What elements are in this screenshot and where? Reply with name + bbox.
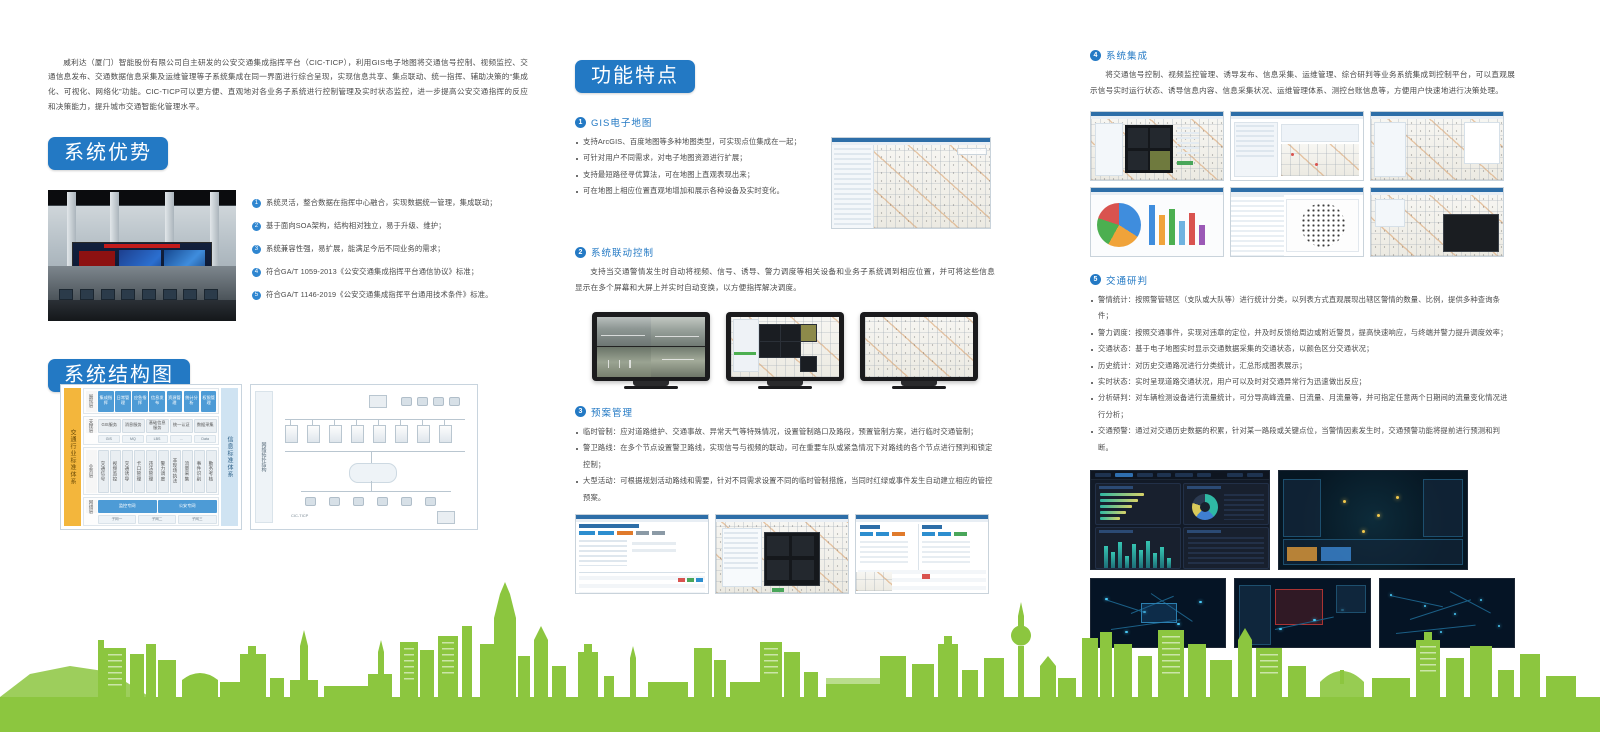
feature-heading-5: 5 交通研判: [1090, 273, 1515, 287]
bullet-number: 3: [252, 245, 261, 254]
list-item: 历史统计：对历史交通路况进行分类统计，汇总形成图表展示；: [1090, 358, 1515, 374]
list-item: 警力调度：按照交通事件，实现对违章的定位，并及时反馈给周边或附近警员，提高快速响…: [1090, 325, 1515, 341]
integration-shot-1: [1090, 111, 1224, 181]
feature-heading-2: 2 系统联动控制: [575, 245, 995, 259]
list-item: 临时管制：应对道路维护、交通事故、异常天气等特殊情况，设置管制路口及路段，预置管…: [575, 424, 995, 440]
list-item: 可针对用户不同需求，对电子地图资源进行扩展；: [575, 150, 815, 166]
chip: 事件识别: [194, 450, 205, 493]
chip: GIS服务: [98, 419, 121, 433]
chip: 资源管理: [167, 391, 183, 412]
monitor-cctv: [592, 312, 710, 389]
section-title: 系统集成: [1106, 48, 1148, 62]
section-title: 交通研判: [1106, 273, 1148, 287]
chip: 应急指挥: [132, 391, 148, 412]
feature-body-2: 支持当交通警情发生时自动将视频、信号、诱导、警力调度等相关设备和业务子系统调到相…: [575, 264, 995, 296]
topology-label: 网络拓扑结构: [255, 391, 273, 523]
features-title: 功能特点: [575, 60, 695, 93]
chip: 警力调度: [158, 450, 169, 493]
list-item: 1系统灵活，整合数据在指挥中心融合，实现数据统一管理，集成联动；: [252, 198, 517, 209]
chip: 监控专网: [98, 500, 157, 514]
section-number: 3: [575, 406, 586, 417]
chip: 违法管理: [146, 450, 157, 493]
list-item: 5符合GA/T 1146-2019《公安交通集成指挥平台通用技术条件》标准。: [252, 290, 517, 301]
dashboard-row-top: [1090, 470, 1515, 570]
feature-heading-1: 1 GIS电子地图: [575, 115, 815, 129]
feature-body-4: 将交通信号控制、视频监控管理、诱导发布、信息采集、运维管理、综合研判等业务系统集…: [1090, 67, 1515, 99]
list-item: 分析研判：对车辆检测设备进行流量统计，可分导高峰流量、日流量、月流量等，并可指定…: [1090, 390, 1515, 423]
chip: 统计分析: [184, 391, 200, 412]
brochure-page: 威利达（厦门）智能股份有限公司自主研发的公安交通集成指挥平台（CIC-TICP）…: [0, 0, 1600, 732]
chip-sub: ...: [170, 435, 193, 443]
monitor-software: [726, 312, 844, 389]
left-axis-label: 交通行业标准体系: [64, 388, 81, 526]
chip-sub: 子网二: [138, 515, 177, 523]
chip: 数据采集: [194, 419, 217, 433]
integration-shot-4: [1090, 187, 1224, 257]
advantage-text: 系统兼容性强，易扩展，能满足今后不同业务的需求；: [266, 244, 445, 255]
middle-column: 功能特点 1 GIS电子地图 支持ArcGIS、百度地图等多种地图类型，可实现点…: [575, 60, 995, 594]
monitor-group: [575, 312, 995, 389]
feature-heading-4: 4 系统集成: [1090, 48, 1515, 62]
bullet-number: 5: [252, 291, 261, 300]
section-title: 系统联动控制: [591, 245, 654, 259]
integration-shot-3: [1370, 111, 1504, 181]
row-label: 业务层: [86, 450, 97, 493]
list-item: 4符合GA/T 1059-2013《公安交通集成指挥平台通信协议》标准；: [252, 267, 517, 278]
chip-sub: LBS: [146, 435, 169, 443]
list-item: 支持ArcGIS、百度地图等多种地图类型，可实现点位集成在一起；: [575, 134, 815, 150]
section-title: GIS电子地图: [591, 115, 652, 129]
chip: 勤务考核: [206, 450, 217, 493]
right-axis-label: 信息标准体系: [221, 388, 238, 526]
list-item: 警情统计：按照警管辖区（支队或大队等）进行统计分类，以列表方式直观展现出辖区警情…: [1090, 292, 1515, 325]
system-structure-diagram: 交通行业标准体系 展现层 集成指挥 日常管理 应急指挥 信息发布 资源管理 统计…: [60, 384, 478, 530]
list-item: 实时状态：实时呈现道路交通状况，用户可以及时对交通异常行为迅速做出反应；: [1090, 374, 1515, 390]
list-item: 可在地图上相应位置直观地增加和展示各种设备及实时变化。: [575, 183, 815, 199]
layer-row-display: 展现层 集成指挥 日常管理 应急指挥 信息发布 资源管理 统计分析 权限管理: [83, 388, 219, 414]
chip: 消息服务: [122, 419, 145, 433]
chip: 流量采集: [182, 450, 193, 493]
list-item: 交通预警：通过对交通历史数据的积累，针对某一路段或关键点位，当警情因素发生时，交…: [1090, 423, 1515, 456]
section-title: 预案管理: [591, 405, 633, 419]
chip-sub: GIS: [98, 435, 121, 443]
layer-row-support: 支撑层 GIS服务 消息服务 基础信息服务 统一认证 数据采集 GIS MQ L…: [83, 416, 219, 445]
row-label: 支撑层: [86, 419, 97, 433]
integration-shot-6: [1370, 187, 1504, 257]
list-item: 交通状态：基于电子地图实时显示交通数据采集的交通状态，以颜色区分交通状况；: [1090, 341, 1515, 357]
chip-sub: Data: [194, 435, 217, 443]
list-item: 警卫路线：在多个节点设置警卫路线，实现信号与视频的联动，可在重要车队或紧急情况下…: [575, 440, 995, 473]
chip: 日常管理: [115, 391, 131, 412]
chip: 非现场执法: [170, 450, 181, 493]
architecture-layers: 交通行业标准体系 展现层 集成指挥 日常管理 应急指挥 信息发布 资源管理 统计…: [60, 384, 242, 530]
monitor-map: [860, 312, 978, 389]
map-visualization-dashboard: [1278, 470, 1468, 570]
advantage-text: 符合GA/T 1146-2019《公安交通集成指挥平台通用技术条件》标准。: [266, 290, 493, 301]
row-label: 网络层: [86, 500, 97, 514]
chip: 公安专网: [158, 500, 217, 514]
integration-shot-5: [1230, 187, 1364, 257]
gis-map-screenshot: [831, 137, 991, 229]
network-topology-diagram: 网络拓扑结构: [250, 384, 478, 530]
advantage-text: 符合GA/T 1059-2013《公安交通集成指挥平台通信协议》标准；: [266, 267, 478, 278]
advantage-text: 基于面向SOA架构，结构相对独立，易于升级、维护；: [266, 221, 446, 232]
feature-bullets-1: 支持ArcGIS、百度地图等多种地图类型，可实现点位集成在一起； 可针对用户不同…: [575, 134, 815, 200]
control-room-photo: [48, 190, 236, 321]
list-item: 3系统兼容性强，易扩展，能满足今后不同业务的需求；: [252, 244, 517, 255]
city-skyline-decoration: [0, 582, 1600, 732]
bullet-number: 4: [252, 268, 261, 277]
feature-bullets-3: 临时管制：应对道路维护、交通事故、异常天气等特殊情况，设置管制路口及路段，预置管…: [575, 424, 995, 506]
feature-bullets-5: 警情统计：按照警管辖区（支队或大队等）进行统计分类，以列表方式直观展现出辖区警情…: [1090, 292, 1515, 456]
bullet-number: 2: [252, 222, 261, 231]
chip: 基础信息服务: [146, 419, 169, 433]
advantages-title: 系统优势: [48, 137, 168, 170]
chip: 视频监控: [110, 450, 121, 493]
section-number: 4: [1090, 50, 1101, 61]
chip-sub: 子网三: [178, 515, 217, 523]
chip: 信息发布: [149, 391, 165, 412]
chip: 交通诱导: [122, 450, 133, 493]
section-number: 1: [575, 117, 586, 128]
row-label: 展现层: [86, 391, 97, 412]
chip: 权限管理: [201, 391, 217, 412]
analytics-dashboard: [1090, 470, 1270, 570]
chip: 卡口管理: [134, 450, 145, 493]
chip: 集成指挥: [98, 391, 114, 412]
chip-sub: 子网一: [98, 515, 137, 523]
layer-row-business: 业务层 交通信号 视频监控 交通诱导 卡口管理 违法管理 警力调度 非现场执法 …: [83, 447, 219, 495]
chip-sub: MQ: [122, 435, 145, 443]
advantage-text: 系统灵活，整合数据在指挥中心融合，实现数据统一管理，集成联动；: [266, 198, 497, 209]
list-item: 2基于面向SOA架构，结构相对独立，易于升级、维护；: [252, 221, 517, 232]
right-column: 4 系统集成 将交通信号控制、视频监控管理、诱导发布、信息采集、运维管理、综合研…: [1090, 48, 1515, 648]
section-number: 2: [575, 247, 586, 258]
chip: 交通信号: [98, 450, 109, 493]
list-item: 大型活动：可根据规划活动路线和需要，针对不同需求设置不同的临时管制措施，当同时红…: [575, 473, 995, 506]
chip: 统一认证: [170, 419, 193, 433]
section-number: 5: [1090, 274, 1101, 285]
bullet-number: 1: [252, 199, 261, 208]
intro-paragraph: 威利达（厦门）智能股份有限公司自主研发的公安交通集成指挥平台（CIC-TICP）…: [48, 56, 528, 115]
list-item: 支持最短路径寻优算法，可在地图上直观表现出来；: [575, 167, 815, 183]
feature-heading-3: 3 预案管理: [575, 405, 995, 419]
left-column: 威利达（厦门）智能股份有限公司自主研发的公安交通集成指挥平台（CIC-TICP）…: [48, 48, 528, 392]
integration-screenshot-grid: [1090, 111, 1515, 257]
integration-shot-2: [1230, 111, 1364, 181]
advantage-list: 1系统灵活，整合数据在指挥中心融合，实现数据统一管理，集成联动； 2基于面向SO…: [252, 176, 517, 321]
layer-row-network: 网络层 监控专网 公安专网 子网一 子网二 子网三: [83, 497, 219, 526]
